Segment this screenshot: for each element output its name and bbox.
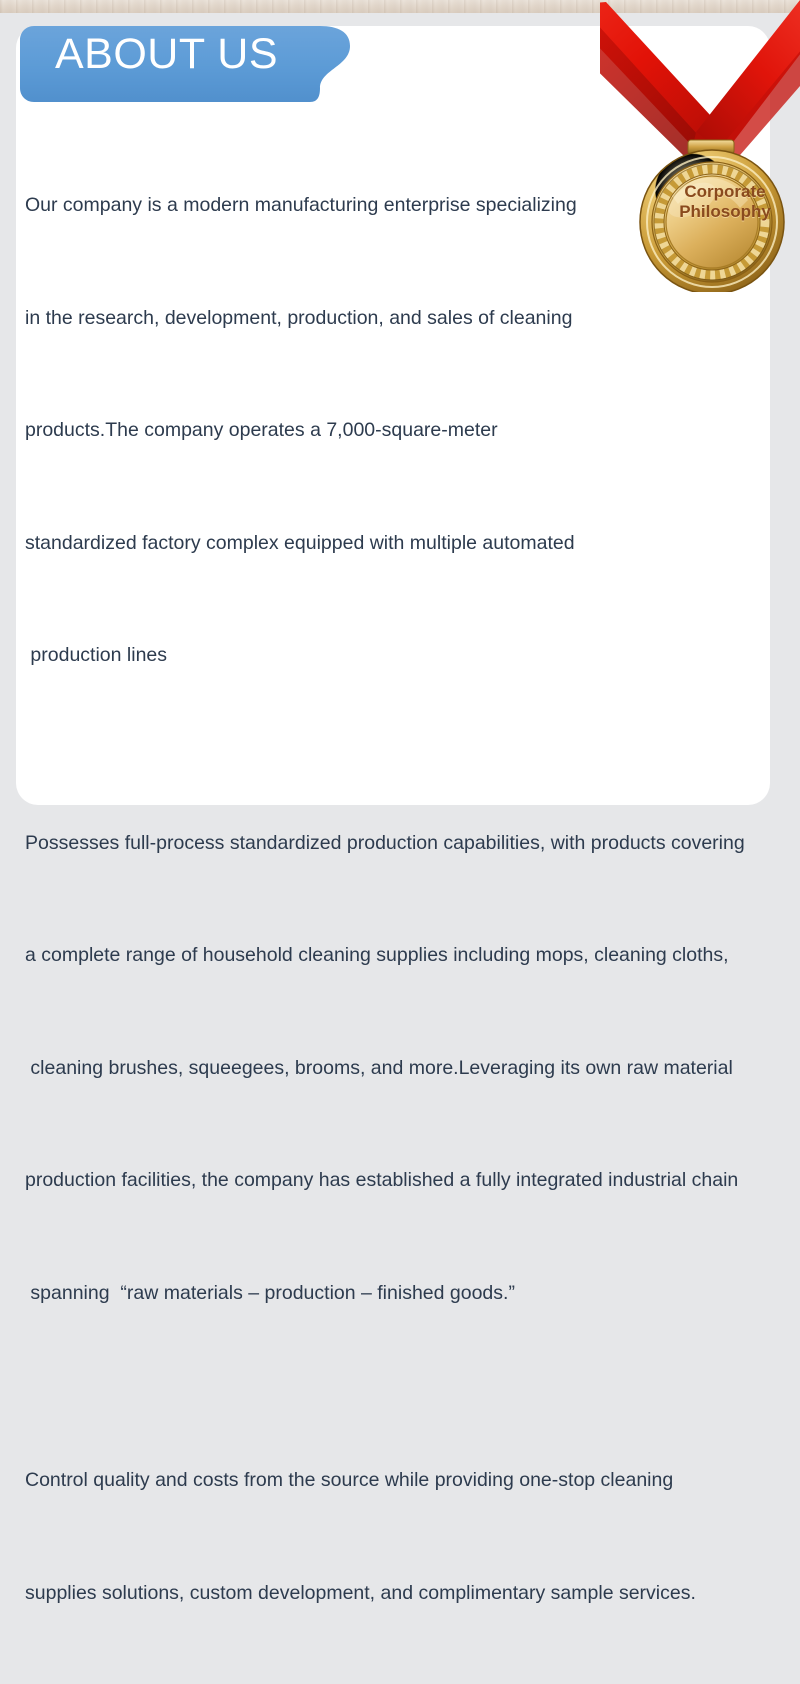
- page-title: ABOUT US: [55, 33, 278, 76]
- text-line: production lines: [25, 637, 777, 675]
- text-line: cleaning brushes, squeegees, brooms, and…: [25, 1050, 777, 1088]
- text-line: Our company is a modern manufacturing en…: [25, 187, 777, 225]
- paragraph-quality-and-markets: Control quality and costs from the sourc…: [25, 1387, 777, 1684]
- text-line: production facilities, the company has e…: [25, 1162, 777, 1200]
- medal-label-line-1: Corporate: [668, 182, 782, 202]
- text-line: Possesses full-process standardized prod…: [25, 825, 777, 863]
- text-line: Control quality and costs from the sourc…: [25, 1462, 777, 1500]
- text-line: standardized factory complex equipped wi…: [25, 525, 777, 563]
- text-line: spanning “raw materials – production – f…: [25, 1275, 777, 1313]
- wood-texture-strip: [0, 0, 800, 13]
- paragraph-production-capabilities: Possesses full-process standardized prod…: [25, 750, 777, 1388]
- medal-label-line-2: Philosophy: [668, 202, 782, 222]
- text-line: products.The company operates a 7,000-sq…: [25, 412, 777, 450]
- text-line: in the research, development, production…: [25, 300, 777, 338]
- text-line: supplies solutions, custom development, …: [25, 1575, 777, 1613]
- text-line: a complete range of household cleaning s…: [25, 937, 777, 975]
- paragraph-company-overview: Our company is a modern manufacturing en…: [25, 112, 777, 750]
- about-us-body: Our company is a modern manufacturing en…: [25, 112, 777, 1684]
- medal-label: Corporate Philosophy: [668, 182, 782, 222]
